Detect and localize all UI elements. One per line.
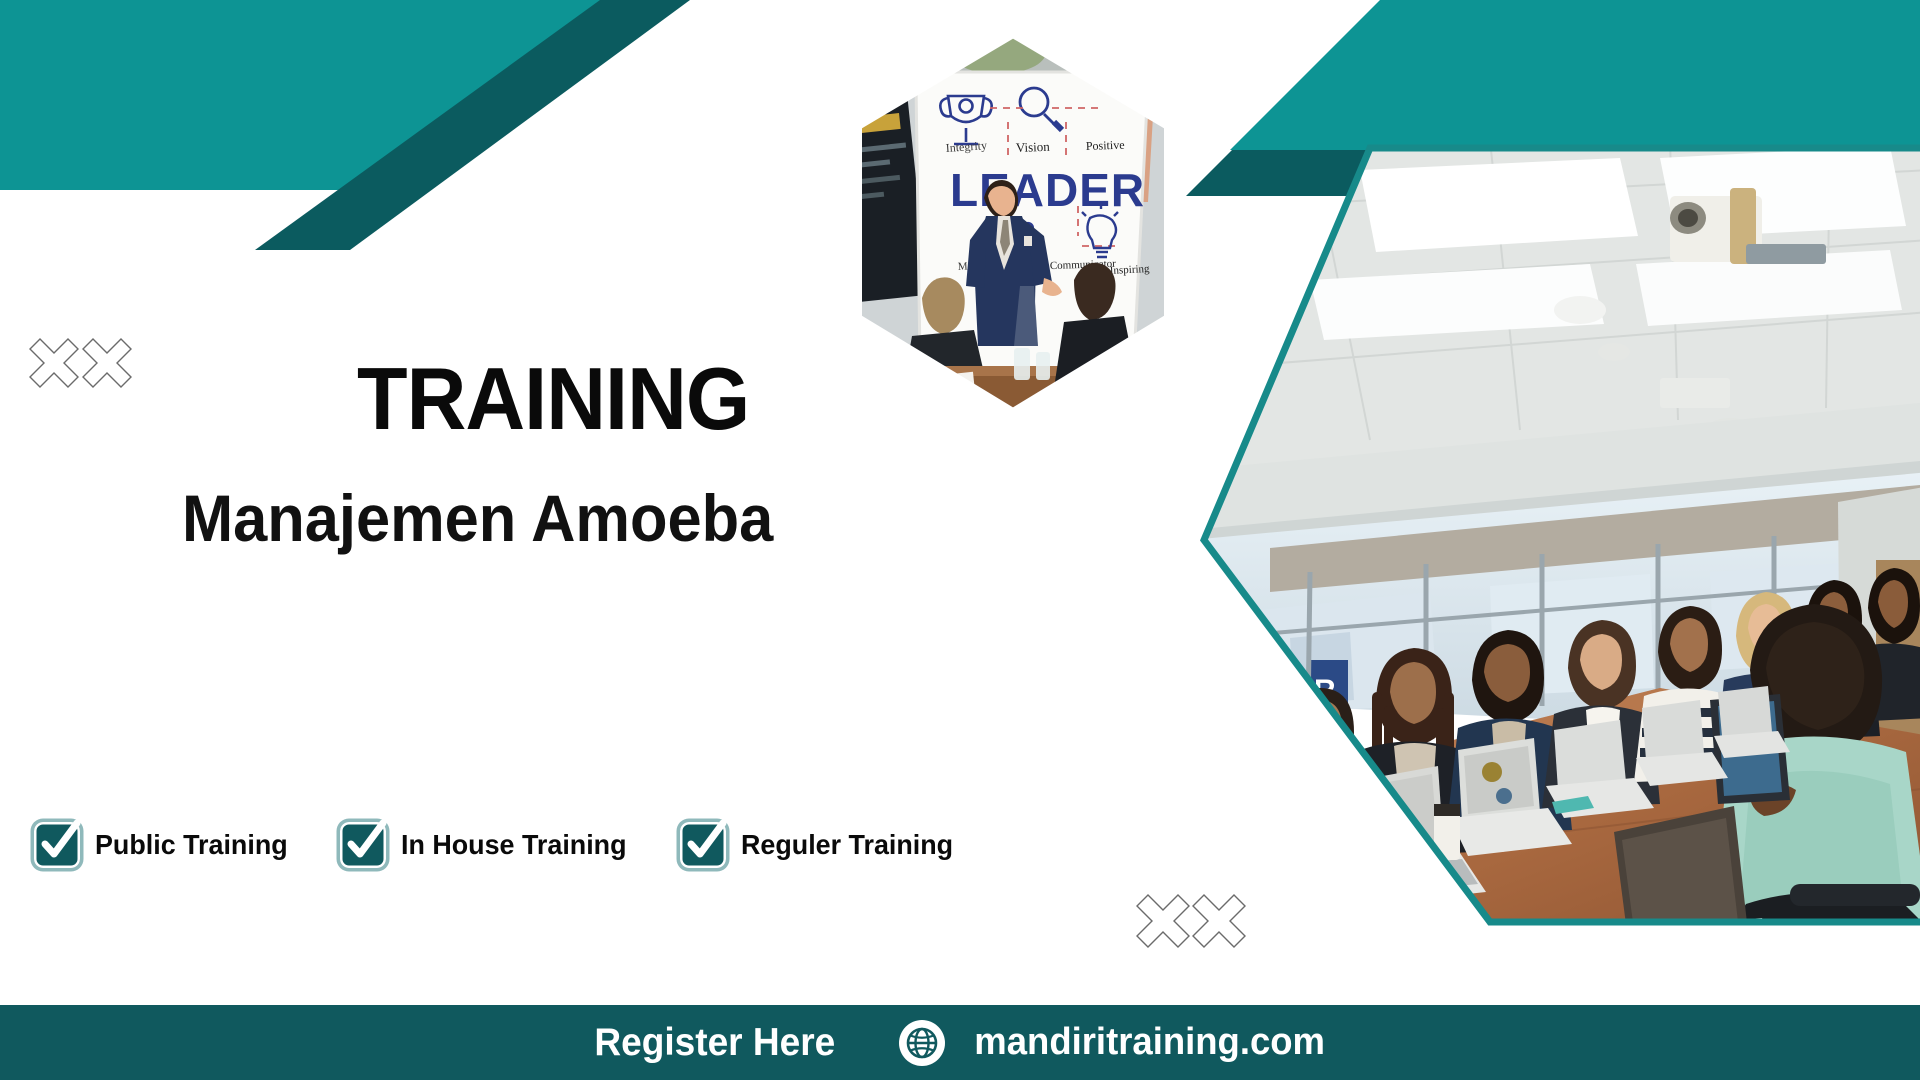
training-type-list: Public Training In House Training Regule… — [34, 822, 962, 868]
list-item[interactable]: Reguler Training — [680, 822, 962, 868]
poster-canvas: Integrity Vision Positive LEADER Mentor — [0, 0, 1920, 1080]
register-here-label: Register Here — [594, 1021, 835, 1065]
website-url: mandiritraining.com — [974, 1021, 1325, 1064]
list-item-label: Reguler Training — [741, 829, 953, 861]
list-item-label: Public Training — [95, 829, 288, 861]
globe-icon — [899, 1020, 945, 1066]
footer-bar: Register Here mandiritraining.com — [0, 1005, 1920, 1080]
list-item[interactable]: In House Training — [340, 822, 636, 868]
list-item[interactable]: Public Training — [34, 822, 296, 868]
x-marks-bottom-decoration — [1135, 885, 1250, 957]
checkbox-checked-icon[interactable] — [340, 822, 386, 868]
page-subtitle: Manajemen Amoeba — [182, 485, 1014, 551]
checkbox-checked-icon[interactable] — [34, 822, 80, 868]
list-item-label: In House Training — [401, 829, 627, 861]
x-marks-left-decoration — [28, 330, 133, 396]
page-title: TRAINING — [357, 355, 1034, 443]
website-link[interactable]: mandiritraining.com — [899, 1020, 1332, 1066]
conference-room-team-meeting-photo: R — [1190, 140, 1920, 930]
headline-block: TRAINING Manajemen Amoeba — [357, 355, 1077, 551]
checkbox-checked-icon[interactable] — [680, 822, 726, 868]
svg-text:Inspiring: Inspiring — [1110, 263, 1151, 277]
top-chevron-arm-decoration — [0, 0, 1920, 240]
